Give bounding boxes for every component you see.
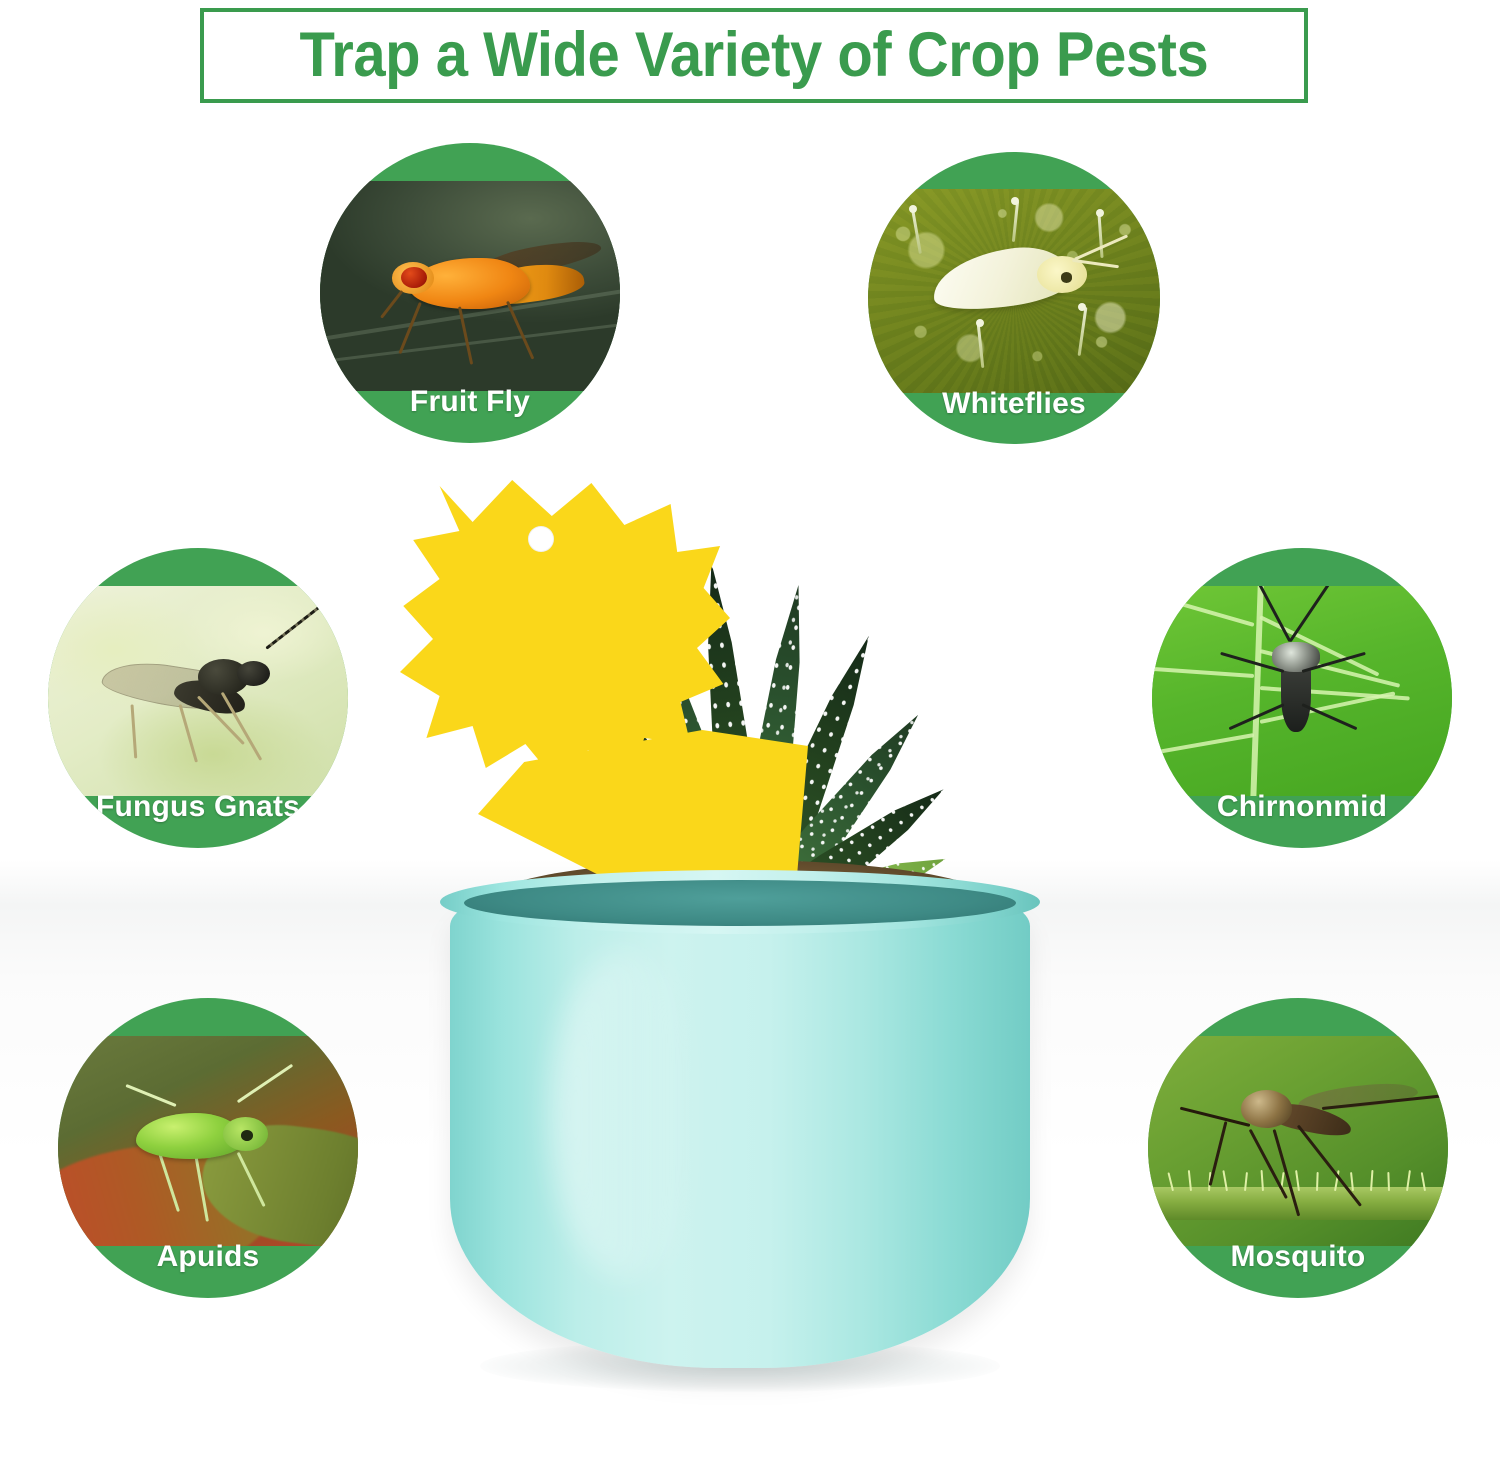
title-banner: Trap a Wide Variety of Crop Pests — [200, 8, 1308, 103]
product-group — [380, 430, 1120, 1480]
pest-photo-chirnonmid — [1152, 586, 1452, 796]
pest-badge-label: Chirnonmid — [1152, 790, 1452, 824]
pest-badge-label: Fruit Fly — [320, 385, 620, 419]
pest-badge-label: Fungus Gnats — [48, 790, 348, 824]
pot-interior — [464, 880, 1016, 926]
pest-badge-fungus-gnats[interactable]: Fungus Gnats — [48, 548, 348, 848]
pest-badge-apuids[interactable]: Apuids — [58, 998, 358, 1298]
pest-badge-fruit-fly[interactable]: Fruit Fly — [320, 143, 620, 443]
promo-image: Trap a Wide Variety of Crop Pests Fruit … — [0, 0, 1500, 1483]
plant-pot — [440, 870, 1040, 1370]
page-title: Trap a Wide Variety of Crop Pests — [300, 24, 1209, 87]
pot-highlight — [550, 950, 700, 1280]
pest-badge-chirnonmid[interactable]: Chirnonmid — [1152, 548, 1452, 848]
pot-body — [450, 898, 1030, 1368]
pest-photo-fungus-gnats — [48, 586, 348, 796]
pest-photo-whiteflies — [868, 189, 1160, 393]
pest-badge-whiteflies[interactable]: Whiteflies — [868, 152, 1160, 444]
pest-badge-label: Mosquito — [1148, 1240, 1448, 1274]
pest-photo-fruit-fly — [320, 181, 620, 391]
pest-badge-label: Apuids — [58, 1240, 358, 1274]
pest-badge-mosquito[interactable]: Mosquito — [1148, 998, 1448, 1298]
pest-photo-apuids — [58, 1036, 358, 1246]
pest-photo-mosquito — [1148, 1036, 1448, 1246]
trap-hanging-hole — [528, 526, 554, 552]
pest-badge-label: Whiteflies — [868, 387, 1160, 421]
